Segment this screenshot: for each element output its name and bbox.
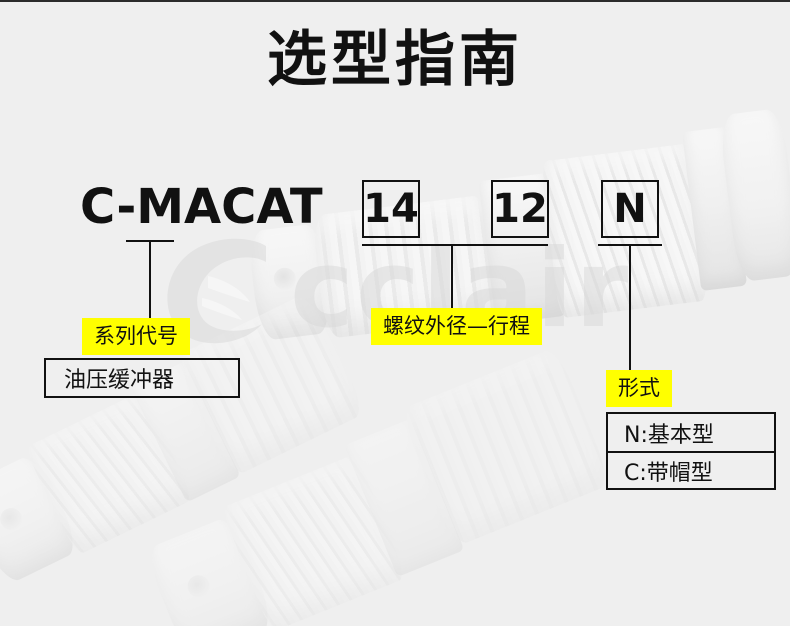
product-cap <box>143 514 277 626</box>
product-bellows <box>399 347 612 548</box>
product-hex-nut-2 <box>682 127 747 291</box>
product-cap <box>0 452 83 587</box>
leader-line-type-vertical <box>629 244 631 370</box>
callout-type-label: 形式 <box>606 370 672 407</box>
product-hex-nut <box>344 418 464 577</box>
selection-guide-page: cclair 选型指南 C-MACAT 14 12 N 系列代号 螺纹外径—行程… <box>0 0 790 626</box>
product-image-lower-left <box>0 269 419 626</box>
callout-dimension-label: 螺纹外径—行程 <box>371 308 542 345</box>
type-option-row: C:带帽型 <box>608 451 774 488</box>
cap-dimple <box>272 266 297 291</box>
series-description-box: 油压缓冲器 <box>44 358 240 398</box>
leader-line-dimension-vertical <box>451 244 453 308</box>
type-option-row: N:基本型 <box>608 414 774 451</box>
product-thread-barrel <box>24 391 193 556</box>
leader-line-series-vertical <box>149 240 151 324</box>
cap-dimple <box>184 572 213 601</box>
product-cap <box>247 223 334 341</box>
code-box-thread-diameter[interactable]: 14 <box>362 180 420 238</box>
type-options-table: N:基本型 C:带帽型 <box>606 412 776 490</box>
code-box-stroke[interactable]: 12 <box>491 180 549 238</box>
top-border-rule <box>0 0 790 2</box>
product-image-shock-absorber-main <box>234 61 787 422</box>
cap-dimple <box>0 504 26 533</box>
product-end-cap <box>718 108 790 283</box>
model-series-code: C-MACAT <box>80 182 323 232</box>
code-box-type[interactable]: N <box>601 180 659 238</box>
page-title: 选型指南 <box>0 30 790 90</box>
product-thread-barrel <box>221 453 407 626</box>
leader-line-dimension-horizontal <box>362 244 548 246</box>
callout-series-label: 系列代号 <box>82 318 190 355</box>
